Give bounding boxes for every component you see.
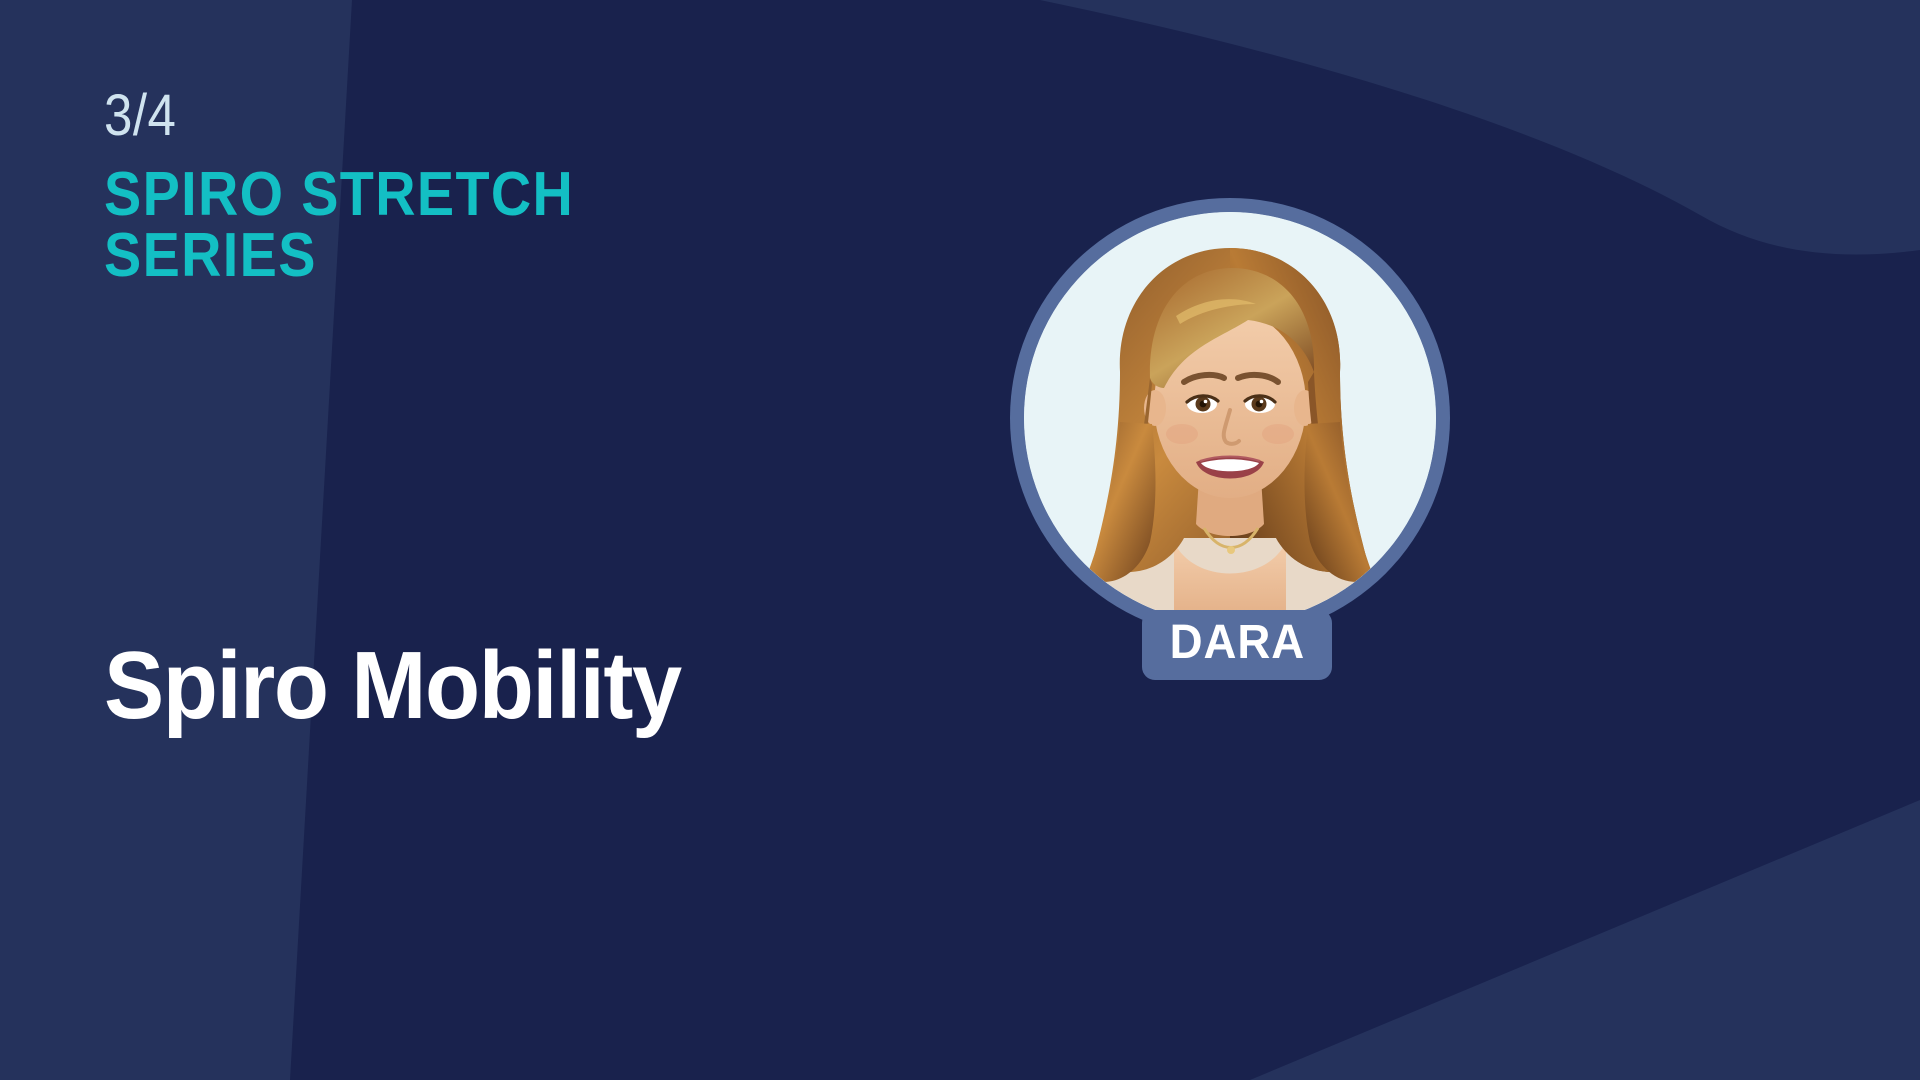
series-title-line-1: SPIRO STRETCH [104,165,680,226]
page-title: Spiro Mobility [104,638,931,734]
episode-counter: 3/4 [104,88,861,143]
presenter-name: DARA [1169,619,1305,667]
presenter-portrait-illustration [1024,212,1436,624]
presenter-name-badge: DARA [1142,610,1332,680]
slide-canvas: 3/4 SPIRO STRETCH SERIES Spiro Mobility [0,0,1920,1080]
series-title-line-2: SERIES [104,226,680,287]
text-content-column: 3/4 SPIRO STRETCH SERIES Spiro Mobility [104,0,1004,1080]
avatar [1024,212,1436,624]
series-title: SPIRO STRETCH SERIES [104,165,680,287]
series-header-block: 3/4 SPIRO STRETCH SERIES [104,88,964,287]
presenter-block: DARA [1010,198,1450,838]
